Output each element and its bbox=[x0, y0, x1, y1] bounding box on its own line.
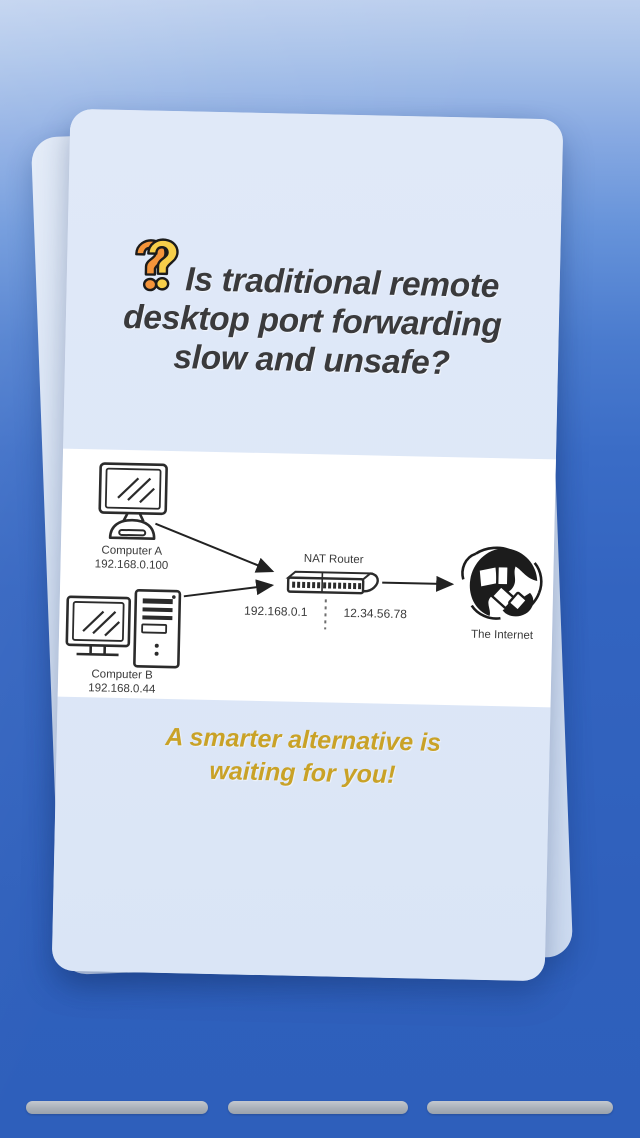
bottom-indicator-bar bbox=[0, 1094, 640, 1124]
desktop-computer-tower-icon bbox=[66, 589, 180, 667]
computer-b-label: Computer B bbox=[91, 668, 153, 681]
screenshot-root: Is traditional remote desktop port forwa… bbox=[0, 0, 640, 1138]
computer-b-ip: 192.168.0.44 bbox=[88, 682, 156, 695]
caption-line-2: waiting for you! bbox=[209, 757, 396, 789]
connection-router-to-internet bbox=[382, 583, 452, 585]
headline-line-3: slow and unsafe? bbox=[173, 339, 450, 382]
headline-line-2: desktop port forwarding bbox=[123, 299, 502, 344]
card-surface: Is traditional remote desktop port forwa… bbox=[52, 109, 564, 982]
internet-label: The Internet bbox=[471, 629, 534, 642]
nat-boundary-divider bbox=[325, 599, 326, 629]
globe-network-icon bbox=[461, 545, 542, 619]
network-diagram-panel: Computer A 192.168.0.100 bbox=[58, 449, 556, 708]
headline-line-1: Is traditional remote bbox=[185, 261, 500, 305]
router-switch-icon bbox=[288, 572, 378, 594]
all-in-one-computer-icon bbox=[99, 463, 167, 538]
indicator-pill-1[interactable] bbox=[26, 1101, 208, 1114]
computer-a-label: Computer A bbox=[101, 545, 162, 558]
nat-router-lan-ip: 192.168.0.1 bbox=[244, 604, 308, 619]
nat-router-label: NAT Router bbox=[304, 553, 364, 566]
caption-block: A smarter alternative is waiting for you… bbox=[100, 720, 506, 795]
connection-a-to-router bbox=[154, 524, 273, 572]
indicator-pill-2[interactable] bbox=[228, 1101, 408, 1114]
caption-line-1: A smarter alternative is bbox=[165, 723, 441, 757]
double-question-mark-emoji bbox=[127, 236, 184, 297]
connection-b-to-router bbox=[184, 583, 272, 598]
nat-router-wan-ip: 12.34.56.78 bbox=[343, 606, 407, 621]
computer-a-ip: 192.168.0.100 bbox=[95, 558, 169, 572]
network-diagram: Computer A 192.168.0.100 bbox=[58, 449, 556, 708]
indicator-pill-3[interactable] bbox=[427, 1101, 613, 1114]
headline-block: Is traditional remote desktop port forwa… bbox=[81, 235, 545, 386]
content-card[interactable]: Is traditional remote desktop port forwa… bbox=[52, 109, 564, 982]
